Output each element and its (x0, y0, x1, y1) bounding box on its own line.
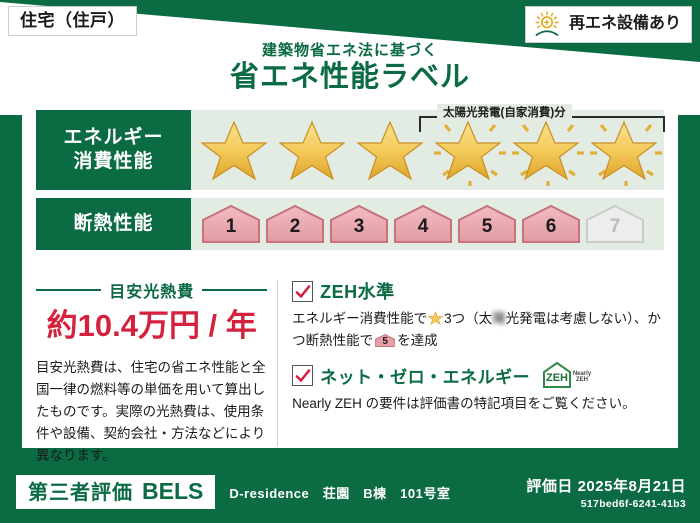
utility-cost-heading: 目安光熱費 (36, 278, 267, 302)
section-divider (277, 280, 278, 446)
zeh-text-part2: 3つ（太 (444, 311, 492, 326)
svg-text:ZEH: ZEH (576, 377, 588, 383)
label-title: 建築物省エネ法に基づく 省エネ性能ラベル (0, 42, 700, 95)
insulation-level-6-label: 6 (546, 217, 557, 244)
property-name: D-residence 荘園 B棟 101号室 (229, 483, 450, 502)
net-zero-text: Nearly ZEH の要件は評価書の特記項目をご覧ください。 (292, 393, 664, 415)
title-subtitle: 建築物省エネ法に基づく (0, 42, 700, 59)
insulation-level-1: 1 (201, 204, 261, 244)
dwelling-type-chip: 住宅（住戸） (8, 6, 137, 36)
sun-solar-icon (532, 11, 562, 37)
utility-cost-section: 目安光熱費 約10.4万円 / 年 目安光熱費は、住宅の省エネ性能と全国一律の燃… (36, 278, 277, 448)
renewable-equipment-chip: 再エネ設備あり (525, 6, 692, 43)
net-zero-checkbox[interactable] (292, 365, 313, 386)
net-zero-block: ネット・ゼロ・エネルギー ZEH Nearly ZEH Nearly ZEH の… (292, 361, 664, 415)
insulation-level-2: 2 (265, 204, 325, 244)
energy-performance-row: エネルギー 消費性能 太陽光発電(自家消費)分 (36, 110, 664, 190)
bels-en-label: BELS (142, 480, 203, 503)
insulation-level-7-label: 7 (610, 217, 621, 244)
energy-label-line1: エネルギー (63, 126, 163, 150)
bels-badge: 第三者評価 BELS (16, 475, 215, 509)
insulation-level-5-label: 5 (482, 217, 493, 244)
footer-bar: 第三者評価 BELS D-residence 荘園 B棟 101号室 評価日 2… (0, 461, 700, 523)
energy-row-body: 太陽光発電(自家消費)分 (191, 110, 665, 190)
title-main: 省エネ性能ラベル (0, 60, 700, 95)
insulation-performance-row: 断熱性能 1 2 3 (36, 198, 664, 250)
check-icon (295, 368, 311, 384)
check-icon (295, 284, 311, 300)
energy-label-line2: 消費性能 (73, 150, 153, 174)
evaluation-info: 評価日 2025年8月21日 517bed6f-6241-41b3 (526, 475, 686, 510)
insulation-level-4-label: 4 (418, 217, 429, 244)
zeh-section: ZEH水準 エネルギー消費性能で3つ（太陽光発電は考慮しない）、かつ断熱性能で5… (288, 278, 664, 448)
inline-badge-value: 5 (375, 333, 395, 348)
heading-rule-left (36, 289, 101, 291)
energy-performance-label: 住宅（住戸） 再エネ設備あり (0, 0, 700, 523)
utility-cost-note: 目安光熱費は、住宅の省エネ性能と全国一律の燃料等の単価を用いて算出したものです。… (36, 357, 267, 466)
net-zero-title: ネット・ゼロ・エネルギー (320, 363, 530, 388)
insulation-level-scale: 1 2 3 4 5 (191, 198, 664, 250)
star-1 (197, 111, 275, 189)
lower-section: 目安光熱費 約10.4万円 / 年 目安光熱費は、住宅の省エネ性能と全国一律の燃… (36, 278, 664, 448)
utility-cost-heading-label: 目安光熱費 (109, 278, 194, 302)
inline-insulation-badge-icon: 5 (375, 333, 395, 348)
zeh-nearly-logo-icon: ZEH Nearly ZEH (541, 361, 593, 389)
insulation-level-5: 5 (457, 204, 517, 244)
net-zero-heading: ネット・ゼロ・エネルギー ZEH Nearly ZEH (292, 361, 664, 389)
svg-text:ZEH: ZEH (546, 372, 568, 384)
insulation-level-4: 4 (393, 204, 453, 244)
zeh-standard-block: ZEH水準 エネルギー消費性能で3つ（太陽光発電は考慮しない）、かつ断熱性能で5… (292, 278, 664, 351)
heading-rule-right (202, 289, 267, 291)
insulation-level-3-label: 3 (354, 217, 365, 244)
insulation-level-6: 6 (521, 204, 581, 244)
zeh-standard-text: エネルギー消費性能で3つ（太陽光発電は考慮しない）、かつ断熱性能で5を達成 (292, 308, 664, 351)
utility-cost-value: 約10.4万円 / 年 (36, 309, 267, 343)
insulation-level-1-label: 1 (226, 217, 237, 244)
solar-generation-bracket-label: 太陽光発電(自家消費)分 (437, 104, 572, 120)
evaluation-date: 評価日 2025年8月21日 (526, 475, 686, 496)
zeh-standard-title: ZEH水準 (320, 278, 395, 304)
zeh-standard-heading: ZEH水準 (292, 278, 664, 304)
insulation-level-7: 7 (585, 204, 645, 244)
bels-jp-label: 第三者評価 (28, 483, 133, 503)
insulation-level-3: 3 (329, 204, 389, 244)
zeh-text-blurred-char: 陽 (492, 308, 506, 330)
insulation-row-body: 1 2 3 4 5 (191, 198, 664, 250)
inline-star-icon (428, 311, 443, 325)
zeh-text-part4: を達成 (397, 333, 438, 348)
insulation-row-label: 断熱性能 (36, 198, 191, 250)
renewable-chip-label: 再エネ設備あり (569, 16, 681, 32)
performance-rows: エネルギー 消費性能 太陽光発電(自家消費)分 (36, 110, 664, 258)
zeh-standard-checkbox[interactable] (292, 281, 313, 302)
evaluation-id: 517bed6f-6241-41b3 (526, 498, 686, 510)
insulation-level-2-label: 2 (290, 217, 301, 244)
energy-row-label: エネルギー 消費性能 (36, 110, 191, 190)
zeh-text-part1: エネルギー消費性能で (292, 311, 427, 326)
star-2 (275, 111, 353, 189)
